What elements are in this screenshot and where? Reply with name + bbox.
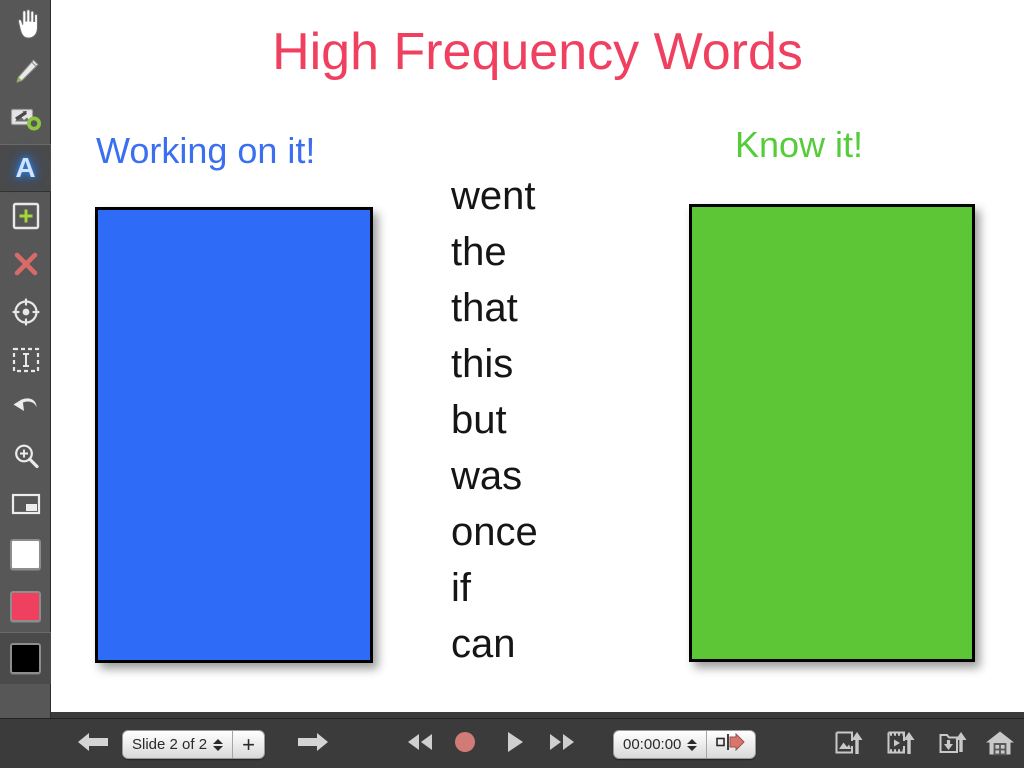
column-heading-working[interactable]: Working on it!	[96, 130, 315, 172]
list-item[interactable]: but	[451, 392, 601, 448]
target-icon	[12, 298, 40, 326]
image-tool[interactable]	[0, 96, 51, 144]
timecode-stepper[interactable]	[687, 739, 697, 751]
play-icon	[505, 731, 525, 758]
pencil-icon	[11, 57, 41, 87]
slide-canvas[interactable]: High Frequency Words Working on it! Know…	[51, 0, 1024, 712]
right-arrow-icon	[297, 731, 329, 758]
dashed-box-i-icon	[12, 347, 40, 373]
export-image-button[interactable]	[834, 731, 864, 759]
rewind-button[interactable]	[403, 732, 437, 756]
zoom-tool[interactable]	[0, 432, 51, 480]
delete-tool[interactable]	[0, 240, 51, 288]
fast-forward-icon	[547, 732, 577, 757]
list-item[interactable]: that	[451, 280, 601, 336]
jump-to-end-icon	[716, 733, 746, 756]
list-item[interactable]: was	[451, 448, 601, 504]
text-tool[interactable]: A	[0, 144, 51, 192]
swatch-chip-black	[10, 643, 41, 674]
timecode-label: 00:00:00	[623, 736, 681, 753]
swatch-chip-pink	[10, 591, 41, 622]
card-know-it[interactable]	[689, 204, 975, 662]
slide-counter-label: Slide 2 of 2	[132, 736, 207, 753]
list-item[interactable]: went	[451, 168, 601, 224]
record-icon	[454, 731, 476, 758]
layout-panel-icon	[11, 492, 41, 516]
plus-square-icon	[12, 202, 40, 230]
x-close-icon	[12, 250, 40, 278]
export-video-icon	[887, 730, 915, 761]
list-item[interactable]: once	[451, 504, 601, 560]
laser-tool[interactable]	[0, 288, 51, 336]
list-item[interactable]: this	[451, 336, 601, 392]
swatch-chip-white	[10, 539, 41, 570]
add-slide-button[interactable]: +	[232, 731, 264, 758]
color-swatch-white[interactable]	[0, 528, 51, 580]
pen-tool[interactable]	[0, 48, 51, 96]
jump-to-end-button[interactable]	[706, 731, 755, 758]
list-item[interactable]: can	[451, 616, 601, 672]
rewind-icon	[405, 732, 435, 757]
home-icon	[985, 730, 1015, 761]
list-item[interactable]: if	[451, 560, 601, 616]
select-tool[interactable]	[0, 336, 51, 384]
word-list: went the that this but was once if can	[451, 168, 601, 672]
plus-icon: +	[242, 734, 255, 756]
layout-tool[interactable]	[0, 480, 51, 528]
list-item[interactable]: the	[451, 224, 601, 280]
slide-counter-control[interactable]: Slide 2 of 2 +	[122, 730, 265, 759]
page-title[interactable]: High Frequency Words	[51, 22, 1024, 82]
timecode-control[interactable]: 00:00:00	[613, 730, 756, 759]
image-record-icon	[10, 107, 42, 133]
bottom-toolbar: Slide 2 of 2 +	[0, 718, 1024, 768]
color-swatch-black[interactable]	[0, 632, 51, 684]
export-image-icon	[835, 730, 863, 761]
undo-arrow-icon	[11, 394, 41, 422]
left-toolbar: A	[0, 0, 51, 718]
prev-slide-button[interactable]	[76, 732, 110, 756]
home-button[interactable]	[985, 731, 1015, 759]
letter-a-icon: A	[15, 154, 35, 182]
undo-tool[interactable]	[0, 384, 51, 432]
timecode-segment[interactable]: 00:00:00	[614, 731, 706, 758]
column-heading-know[interactable]: Know it!	[735, 124, 863, 166]
color-swatch-pink[interactable]	[0, 580, 51, 632]
add-shape-tool[interactable]	[0, 192, 51, 240]
hand-tool[interactable]	[0, 0, 51, 48]
presentation-app: A	[0, 0, 1024, 768]
fast-forward-button[interactable]	[545, 732, 579, 756]
slide-counter-stepper[interactable]	[213, 739, 223, 751]
export-folder-icon	[939, 730, 967, 761]
next-slide-button[interactable]	[296, 732, 330, 756]
play-button[interactable]	[498, 732, 532, 756]
card-working-on-it[interactable]	[95, 207, 373, 663]
magnifier-plus-icon	[12, 442, 40, 470]
slide-counter-segment[interactable]: Slide 2 of 2	[123, 731, 232, 758]
left-arrow-icon	[77, 731, 109, 758]
record-button[interactable]	[448, 732, 482, 756]
hand-icon	[13, 9, 39, 39]
export-folder-button[interactable]	[938, 731, 968, 759]
export-video-button[interactable]	[886, 731, 916, 759]
